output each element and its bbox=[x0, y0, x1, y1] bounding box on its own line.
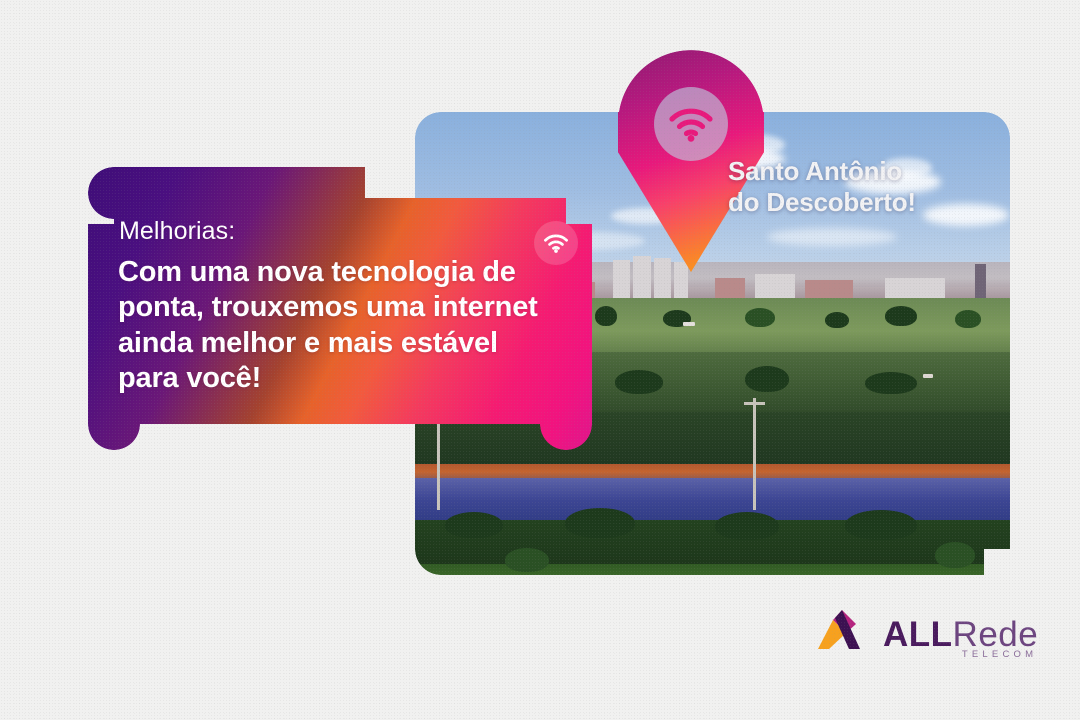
roof-speck bbox=[683, 322, 695, 326]
logo-word: ALLRede bbox=[883, 617, 1038, 652]
tree bbox=[865, 372, 917, 394]
tree bbox=[595, 306, 617, 326]
allrede-a-mark-icon bbox=[816, 608, 870, 658]
cloud bbox=[767, 228, 897, 246]
tree bbox=[885, 306, 917, 326]
city-label: Santo Antônio do Descoberto! bbox=[728, 156, 916, 218]
utility-pole bbox=[753, 398, 756, 510]
tree bbox=[955, 310, 981, 328]
tree bbox=[615, 370, 663, 394]
tree bbox=[825, 312, 849, 328]
card-content: Melhorias: Com uma nova tecnologia de po… bbox=[88, 167, 592, 450]
tree bbox=[715, 512, 779, 540]
tree bbox=[935, 542, 975, 568]
card-eyebrow: Melhorias: bbox=[119, 217, 235, 246]
building bbox=[975, 264, 986, 302]
wifi-icon bbox=[668, 106, 714, 142]
logo-word-all: ALL bbox=[883, 615, 953, 654]
logo-wordmark: ALLRede TELECOM bbox=[883, 615, 1038, 652]
cloud bbox=[923, 204, 1009, 226]
tree bbox=[845, 510, 917, 540]
city-label-line1: Santo Antônio bbox=[728, 156, 916, 187]
card-wifi-badge bbox=[534, 221, 578, 265]
roof-speck bbox=[923, 374, 933, 378]
wifi-dot bbox=[688, 135, 695, 142]
tree bbox=[745, 308, 775, 327]
city-label-line2: do Descoberto! bbox=[728, 187, 916, 218]
logo-tagline: TELECOM bbox=[962, 649, 1037, 660]
poster-canvas: Santo Antônio do Descoberto! Melhorias: … bbox=[0, 0, 1080, 720]
card-headline: Com uma nova tecnologia de ponta, trouxe… bbox=[118, 255, 558, 397]
tree bbox=[445, 512, 503, 538]
wifi-dot bbox=[554, 249, 558, 253]
promo-text-card: Melhorias: Com uma nova tecnologia de po… bbox=[88, 167, 592, 450]
pin-inner-circle bbox=[654, 87, 728, 161]
wifi-icon bbox=[543, 233, 569, 253]
grass-layer bbox=[415, 564, 1010, 575]
tree bbox=[505, 548, 549, 572]
tree bbox=[745, 366, 789, 392]
tree bbox=[565, 508, 635, 538]
water-layer bbox=[415, 478, 1010, 526]
allrede-logo: ALLRede TELECOM bbox=[816, 608, 1038, 658]
